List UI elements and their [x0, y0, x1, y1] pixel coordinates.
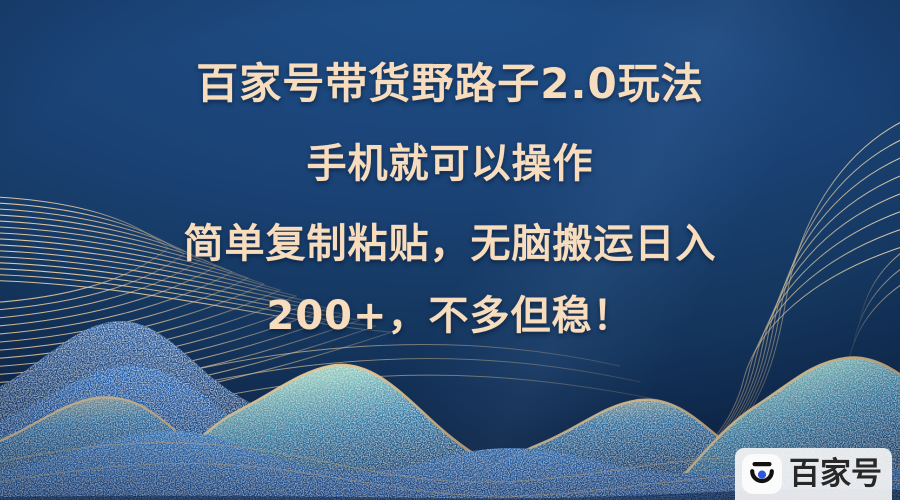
headline-line-2: 手机就可以操作 — [307, 139, 594, 189]
promo-poster: 百家号带货野路子2.0玩法 手机就可以操作 简单复制粘贴，无脑搬运日入 200+… — [0, 0, 900, 500]
baijiahao-badge — [742, 454, 782, 494]
baijiahao-brand-name: 百家号 — [789, 459, 882, 490]
headline-line-1: 百家号带货野路子2.0玩法 — [196, 58, 703, 110]
headline-block: 百家号带货野路子2.0玩法 手机就可以操作 简单复制粘贴，无脑搬运日入 200+… — [0, 0, 900, 500]
baijiahao-bear-paw-icon — [745, 457, 779, 491]
baijiahao-logo: 百家号 — [735, 448, 892, 500]
headline-line-4: 200+，不多但稳！ — [266, 291, 633, 341]
headline-line-3: 简单复制粘贴，无脑搬运日入 — [184, 219, 717, 269]
